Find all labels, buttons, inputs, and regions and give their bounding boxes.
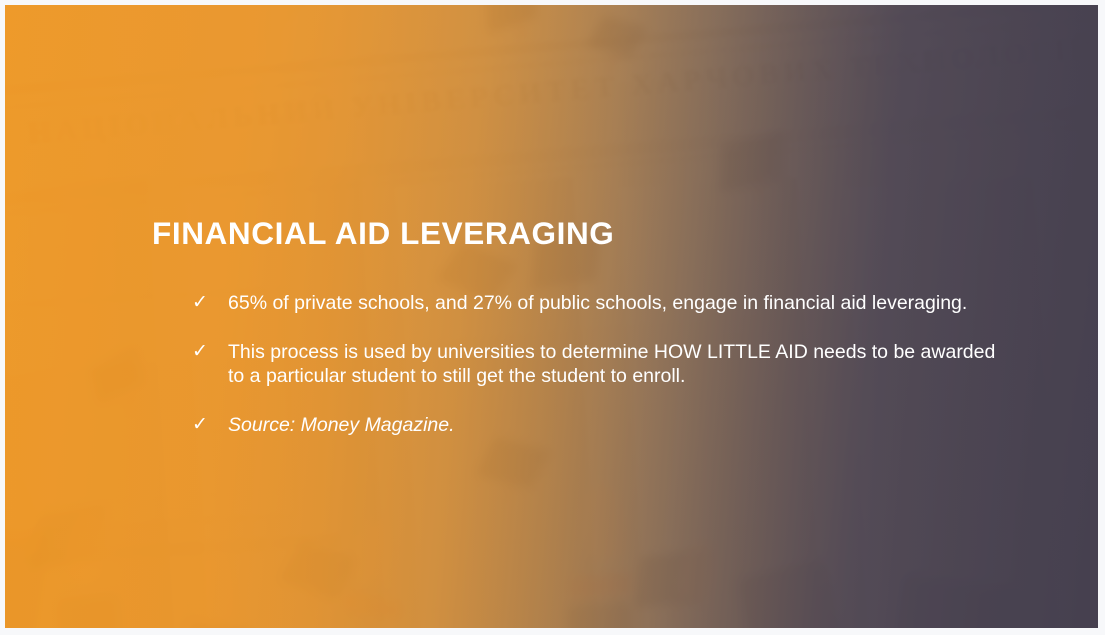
check-icon: ✓ bbox=[192, 340, 214, 365]
slide-frame: НАЦІОНАЛЬНИЙ УНІВЕРСИТЕТ ХАРЧОВИХ ТЕХНОЛ… bbox=[0, 0, 1105, 635]
slide-title: FINANCIAL AID LEVERAGING bbox=[152, 216, 614, 251]
bullet-item-source: ✓ Source: Money Magazine. bbox=[192, 413, 1000, 438]
bullet-text: 65% of private schools, and 27% of publi… bbox=[228, 291, 1000, 316]
presentation-slide: НАЦІОНАЛЬНИЙ УНІВЕРСИТЕТ ХАРЧОВИХ ТЕХНОЛ… bbox=[5, 5, 1098, 628]
check-icon: ✓ bbox=[192, 291, 214, 316]
bullet-list: ✓ 65% of private schools, and 27% of pub… bbox=[192, 291, 1000, 437]
check-icon: ✓ bbox=[192, 413, 214, 438]
slide-content: FINANCIAL AID LEVERAGING ✓ 65% of privat… bbox=[147, 5, 1027, 628]
bullet-item: ✓ 65% of private schools, and 27% of pub… bbox=[192, 291, 1000, 316]
bullet-item: ✓ This process is used by universities t… bbox=[192, 340, 1000, 389]
bullet-text-source: Source: Money Magazine. bbox=[228, 413, 1000, 438]
bullet-text: This process is used by universities to … bbox=[228, 340, 1000, 389]
